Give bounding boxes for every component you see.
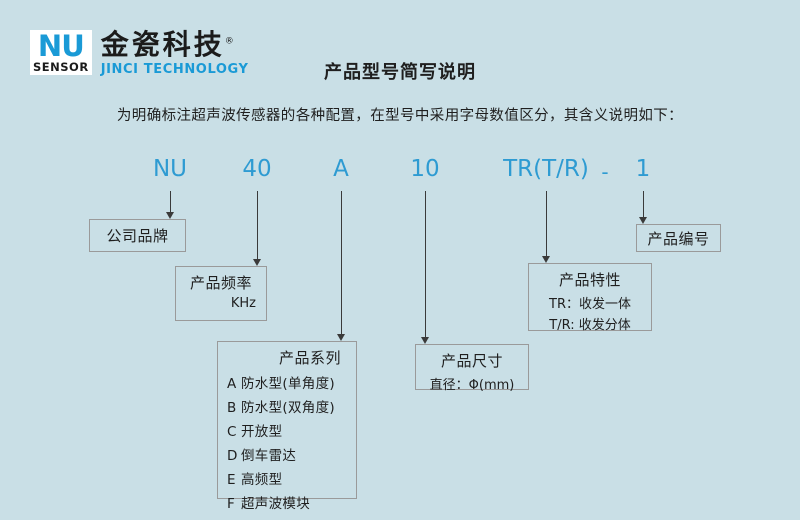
connector-line-frequency xyxy=(257,191,258,259)
logo-nu-text: NU xyxy=(38,32,84,61)
series-label-f: 超声波模块 xyxy=(241,496,310,512)
box-product-series-title: 产品系列 xyxy=(227,347,347,368)
arrow-head-size xyxy=(421,337,429,344)
box-product-serial: 产品编号 xyxy=(636,224,721,252)
box-product-series: 产品系列 A防水型(单角度) B防水型(双角度) C开放型 D倒车雷达 E高频型… xyxy=(217,341,357,499)
box-product-frequency: 产品频率 KHz xyxy=(175,266,267,321)
connector-line-series xyxy=(341,191,342,334)
arrow-head-frequency xyxy=(253,259,261,266)
series-item-c: C开放型 xyxy=(227,420,347,440)
arrow-head-series xyxy=(337,334,345,341)
arrow-head-serial xyxy=(639,217,647,224)
diagram-canvas: NU SENSOR 金瓷科技® JINCI TECHNOLOGY 产品型号简写说… xyxy=(0,0,800,520)
series-letter-d: D xyxy=(227,448,241,464)
series-letter-b: B xyxy=(227,400,241,416)
box-product-frequency-title: 产品频率 xyxy=(186,272,256,293)
box-product-frequency-unit: KHz xyxy=(186,296,256,311)
box-product-size-title: 产品尺寸 xyxy=(426,350,518,371)
box-product-serial-title: 产品编号 xyxy=(645,228,712,249)
box-product-feature-line2: T/R: 收发分体 xyxy=(539,314,641,333)
box-company-brand: 公司品牌 xyxy=(89,219,186,252)
series-label-b: 防水型(双角度) xyxy=(241,400,335,416)
series-label-c: 开放型 xyxy=(241,424,282,440)
model-token-feature: TR(T/R) xyxy=(503,158,589,181)
series-label-d: 倒车雷达 xyxy=(241,448,296,464)
connector-line-serial xyxy=(643,191,644,217)
box-product-feature-title: 产品特性 xyxy=(539,269,641,290)
box-company-brand-title: 公司品牌 xyxy=(100,225,175,246)
model-token-size: 10 xyxy=(410,158,439,181)
model-token-series: A xyxy=(333,158,349,181)
series-label-a: 防水型(单角度) xyxy=(241,376,335,392)
arrow-head-brand xyxy=(166,212,174,219)
box-product-size: 产品尺寸 直径：Φ(mm) xyxy=(415,344,529,390)
series-item-a: A防水型(单角度) xyxy=(227,372,347,392)
series-item-d: D倒车雷达 xyxy=(227,444,347,464)
logo-chinese-name: 金瓷科技® xyxy=(101,31,249,59)
series-item-f: F超声波模块 xyxy=(227,492,347,512)
logo-chinese-name-text: 金瓷科技 xyxy=(101,28,225,61)
connector-line-brand xyxy=(170,191,171,212)
page-title: 产品型号简写说明 xyxy=(0,58,800,84)
model-token-serial: 1 xyxy=(636,158,651,181)
connector-line-feature xyxy=(546,191,547,256)
registered-trademark-icon: ® xyxy=(225,37,234,47)
series-letter-c: C xyxy=(227,424,241,440)
box-product-feature-line1: TR：收发一体 xyxy=(539,293,641,312)
series-letter-f: F xyxy=(227,496,241,512)
series-item-e: E高频型 xyxy=(227,468,347,488)
model-token-brand: NU xyxy=(153,158,187,181)
series-letter-a: A xyxy=(227,376,241,392)
arrow-head-feature xyxy=(542,256,550,263)
connector-line-size xyxy=(425,191,426,337)
series-letter-e: E xyxy=(227,472,241,488)
model-token-separator: - xyxy=(601,162,608,182)
series-item-b: B防水型(双角度) xyxy=(227,396,347,416)
model-token-frequency: 40 xyxy=(242,158,271,181)
box-product-size-detail: 直径：Φ(mm) xyxy=(426,374,518,393)
series-label-e: 高频型 xyxy=(241,472,282,488)
page-subtitle: 为明确标注超声波传感器的各种配置，在型号中采用字母数值区分，其含义说明如下： xyxy=(0,104,800,125)
box-product-feature: 产品特性 TR：收发一体 T/R: 收发分体 xyxy=(528,263,652,331)
